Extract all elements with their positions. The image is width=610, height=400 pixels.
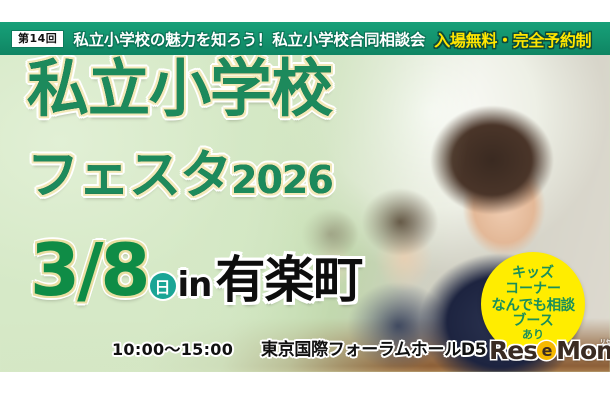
event-date-row: 3/8 日 in 有楽町 bbox=[30, 232, 362, 306]
edition-badge: 第14回 bbox=[11, 30, 64, 48]
logo-part1: Res bbox=[489, 338, 537, 363]
ribbon-headline: 私立小学校の魅力を知ろう！私立小学校合同相談会 bbox=[73, 28, 425, 50]
title-year: 2026 bbox=[231, 158, 333, 202]
event-venue: 東京国際フォーラムホールD5 bbox=[261, 335, 486, 360]
title-festa-text: フェスタ bbox=[27, 146, 231, 206]
page-title-line1: 私立小学校 bbox=[27, 58, 332, 120]
badge-line-1: キッズ bbox=[512, 266, 554, 282]
poster-root: 第14回 私立小学校の魅力を知ろう！私立小学校合同相談会 入場無料・完全予約制 … bbox=[0, 0, 610, 400]
ribbon-free-admission-note: 入場無料・完全予約制 bbox=[434, 27, 591, 51]
logo-accent-letter: e bbox=[537, 341, 556, 360]
badge-line-4: ブース bbox=[512, 314, 553, 330]
logo-ruby-text: リセマム bbox=[600, 337, 610, 346]
badge-line-2: コーナー bbox=[505, 282, 561, 298]
event-location: 有楽町 bbox=[215, 255, 362, 305]
resemom-logo: ReseMom. リセマム bbox=[489, 338, 610, 363]
page-title-line2: フェスタ2026 bbox=[27, 150, 333, 202]
badge-line-3: なんでも相談 bbox=[491, 298, 574, 314]
resemom-logo-text: ReseMom. bbox=[489, 338, 610, 363]
top-ribbon: 第14回 私立小学校の魅力を知ろう！私立小学校合同相談会 入場無料・完全予約制 bbox=[0, 22, 610, 55]
day-of-week-badge: 日 bbox=[150, 273, 176, 299]
event-date: 3/8 bbox=[30, 234, 148, 306]
in-preposition: in bbox=[178, 268, 212, 302]
event-hours: 10:00〜15:00 bbox=[112, 336, 233, 360]
